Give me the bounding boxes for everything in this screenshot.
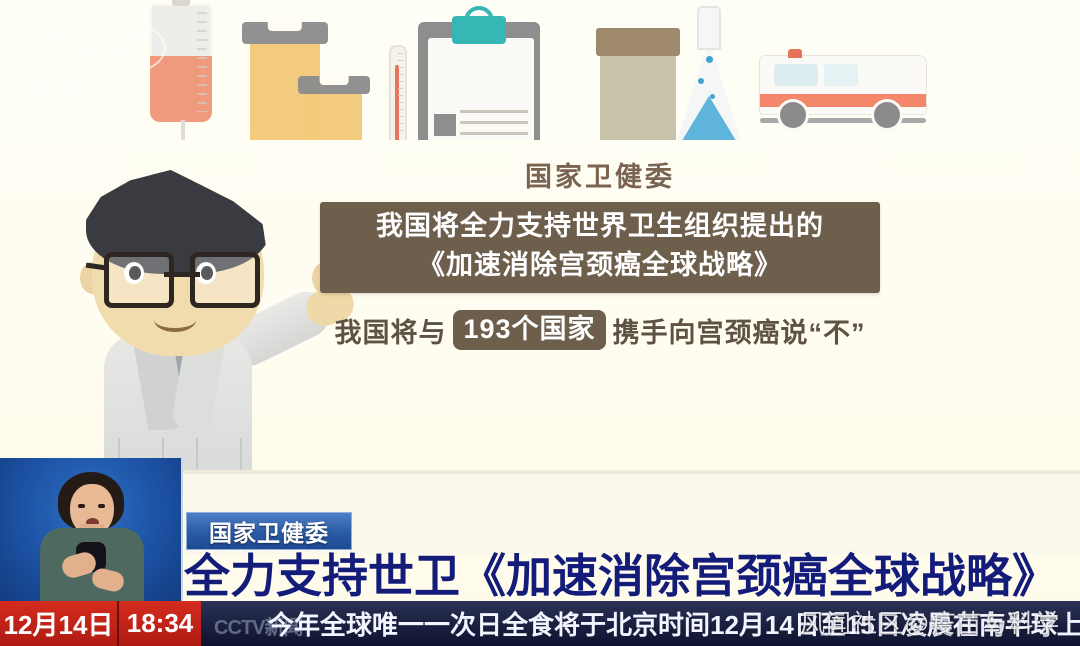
pill-bottle-small-icon <box>306 92 362 140</box>
caption-line3: 我国将与 193个国家 携手向宫颈癌说“不” <box>320 310 880 350</box>
caption-line3-before: 我国将与 <box>334 311 446 350</box>
iv-tube-icon <box>181 120 185 140</box>
caption-statement-line1: 我国将全力支持世界卫生组织提出的 <box>332 207 868 246</box>
lower-third-headline: 全力支持世卫《加速消除宫颈癌全球战略》 <box>184 544 1080 602</box>
main-caption-block: 国家卫健委 我国将全力支持世界卫生组织提出的 《加速消除宫颈癌全球战略》 我国将… <box>320 160 880 350</box>
broadcast-frame: CCTV 13 新闻 国家卫健委 我国将全力支持世界卫生组织提出的 《加速消除宫… <box>0 0 1080 646</box>
ticker-time: 18:34 <box>119 601 201 646</box>
caption-line3-highlight: 193个国家 <box>453 310 605 350</box>
sign-language-interpreter-inset <box>0 458 183 605</box>
caption-line3-after: 携手向宫颈癌说“不” <box>613 311 866 350</box>
cctv-logo-number: 13 <box>104 26 142 65</box>
cartoon-doctor-character <box>58 170 358 500</box>
ticker-date: 12月14日 <box>0 601 117 646</box>
cctv-logo-subtitle: 新闻 <box>28 68 94 102</box>
cctv-logo-text: CCTV <box>0 24 99 69</box>
clipboard-icon <box>418 22 540 140</box>
watermark: 风闻社区@疫苗与科学 <box>800 604 1060 640</box>
caption-source-label: 国家卫健委 <box>320 160 880 194</box>
doctor-glasses <box>104 252 260 300</box>
cctv-logo: CCTV 13 新闻 <box>0 24 175 102</box>
caption-statement-box: 我国将全力支持世界卫生组织提出的 《加速消除宫颈癌全球战略》 <box>320 202 880 293</box>
doctor-mouth <box>154 308 196 332</box>
flask-icon <box>676 8 742 140</box>
ambulance-icon <box>760 56 926 130</box>
medicine-box-icon <box>600 28 676 140</box>
caption-statement-line2: 《加速消除宫颈癌全球战略》 <box>332 246 868 285</box>
lower-third-headline-text: 全力支持世卫《加速消除宫颈癌全球战略》 <box>184 540 1058 606</box>
thermometer-icon <box>389 45 407 140</box>
